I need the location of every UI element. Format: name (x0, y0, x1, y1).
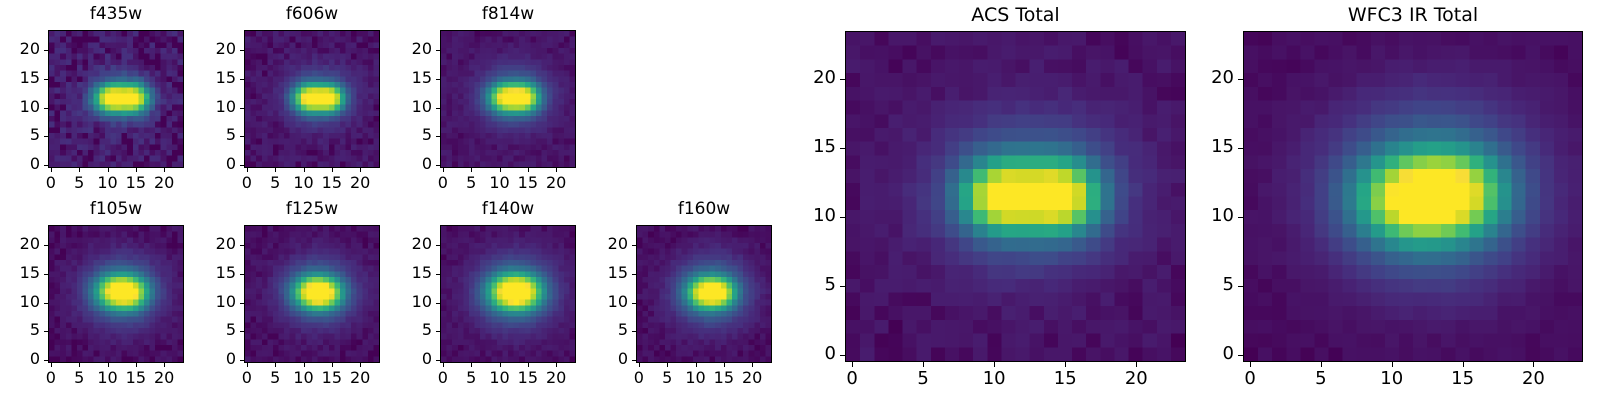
x-tick-mark (1533, 362, 1534, 367)
y-tick-label: 20 (388, 41, 432, 57)
heatmap-image-f435w (49, 31, 183, 167)
x-tick-mark (136, 363, 137, 367)
panel-title-f606w: f606w (244, 6, 380, 23)
panel-title-acs-total: ACS Total (845, 6, 1186, 25)
x-tick-label: 5 (647, 370, 687, 386)
x-tick-mark (923, 362, 924, 367)
axes-f160w[interactable] (636, 225, 772, 363)
x-tick-mark (1392, 362, 1393, 367)
x-tick-mark (304, 363, 305, 367)
x-tick-label: 0 (1230, 370, 1270, 388)
y-tick-label: 10 (1190, 207, 1234, 225)
y-tick-label: 20 (792, 69, 836, 87)
panel-title-f105w: f105w (48, 201, 184, 218)
x-tick-mark (1136, 362, 1137, 367)
axes-wfc3-ir-total[interactable] (1243, 31, 1583, 362)
x-tick-label: 20 (1116, 370, 1156, 388)
x-tick-mark (556, 363, 557, 367)
x-tick-label: 15 (1045, 370, 1085, 388)
panel-title-f435w: f435w (48, 6, 184, 23)
x-tick-label: 10 (974, 370, 1014, 388)
x-tick-mark (247, 363, 248, 367)
y-tick-label: 20 (388, 236, 432, 252)
y-tick-label: 20 (0, 236, 40, 252)
x-tick-label: 15 (312, 370, 352, 386)
x-tick-mark (332, 168, 333, 172)
x-tick-mark (443, 363, 444, 367)
x-tick-label: 20 (536, 175, 576, 191)
x-tick-label: 20 (340, 175, 380, 191)
x-tick-mark (51, 168, 52, 172)
axes-f606w[interactable] (244, 30, 380, 168)
x-tick-label: 10 (480, 370, 520, 386)
axes-f140w[interactable] (440, 225, 576, 363)
y-tick-label: 15 (388, 265, 432, 281)
x-tick-mark (500, 168, 501, 172)
x-tick-label: 20 (144, 175, 184, 191)
x-tick-mark (556, 168, 557, 172)
y-tick-label: 5 (192, 322, 236, 338)
x-tick-mark (360, 168, 361, 172)
x-tick-mark (500, 363, 501, 367)
panel-title-f140w: f140w (440, 201, 576, 218)
heatmap-image-f125w (245, 226, 379, 362)
x-tick-label: 0 (619, 370, 659, 386)
axes-f814w[interactable] (440, 30, 576, 168)
x-tick-label: 10 (284, 370, 324, 386)
x-tick-mark (667, 363, 668, 367)
x-tick-mark (724, 363, 725, 367)
y-tick-label: 10 (192, 99, 236, 115)
x-tick-label: 5 (451, 370, 491, 386)
x-tick-label: 15 (1443, 370, 1483, 388)
x-tick-mark (79, 363, 80, 367)
x-tick-label: 5 (59, 175, 99, 191)
x-tick-label: 10 (88, 175, 128, 191)
x-tick-label: 20 (1513, 370, 1553, 388)
x-tick-mark (275, 168, 276, 172)
x-tick-label: 10 (284, 175, 324, 191)
y-tick-label: 15 (792, 138, 836, 156)
x-tick-label: 0 (31, 175, 71, 191)
x-tick-label: 15 (312, 175, 352, 191)
heatmap-image-acs-total (846, 32, 1185, 361)
y-tick-label: 5 (584, 322, 628, 338)
x-tick-mark (1321, 362, 1322, 367)
x-tick-label: 5 (59, 370, 99, 386)
panel-title-wfc3-ir-total: WFC3 IR Total (1243, 6, 1583, 25)
x-tick-mark (79, 168, 80, 172)
panel-wfc3-ir-total[interactable]: WFC3 IR Total0510152005101520 (0, 0, 1600, 400)
x-tick-label: 0 (832, 370, 872, 388)
x-tick-mark (51, 363, 52, 367)
x-tick-label: 5 (255, 370, 295, 386)
x-tick-mark (108, 168, 109, 172)
x-tick-label: 10 (676, 370, 716, 386)
y-tick-label: 0 (584, 351, 628, 367)
x-tick-label: 20 (144, 370, 184, 386)
x-tick-label: 10 (88, 370, 128, 386)
x-tick-mark (639, 363, 640, 367)
y-tick-label: 15 (192, 265, 236, 281)
axes-acs-total[interactable] (845, 31, 1186, 362)
x-tick-mark (471, 168, 472, 172)
y-tick-label: 0 (192, 156, 236, 172)
y-tick-label: 15 (0, 265, 40, 281)
y-tick-label: 5 (0, 322, 40, 338)
y-tick-label: 15 (1190, 138, 1234, 156)
x-tick-mark (360, 363, 361, 367)
y-tick-label: 20 (1190, 69, 1234, 87)
y-tick-label: 20 (192, 236, 236, 252)
x-tick-label: 15 (704, 370, 744, 386)
x-tick-label: 0 (31, 370, 71, 386)
y-tick-label: 10 (192, 294, 236, 310)
panel-title-f125w: f125w (244, 201, 380, 218)
x-tick-label: 15 (116, 370, 156, 386)
x-tick-mark (275, 363, 276, 367)
y-tick-label: 15 (388, 70, 432, 86)
y-tick-label: 0 (192, 351, 236, 367)
y-tick-label: 10 (792, 207, 836, 225)
figure-canvas: f435w0510152005101520f606w05101520051015… (0, 0, 1600, 400)
y-tick-label: 5 (0, 127, 40, 143)
y-tick-label: 0 (388, 156, 432, 172)
x-tick-mark (1463, 362, 1464, 367)
x-tick-mark (247, 168, 248, 172)
x-tick-label: 0 (423, 175, 463, 191)
y-tick-label: 10 (0, 99, 40, 115)
y-tick-label: 0 (0, 351, 40, 367)
y-tick-label: 0 (0, 156, 40, 172)
axes-f125w[interactable] (244, 225, 380, 363)
x-tick-mark (164, 363, 165, 367)
x-tick-mark (471, 363, 472, 367)
x-tick-label: 5 (1301, 370, 1341, 388)
x-tick-label: 5 (451, 175, 491, 191)
x-tick-mark (136, 168, 137, 172)
y-tick-label: 10 (388, 99, 432, 115)
y-tick-label: 5 (192, 127, 236, 143)
y-tick-label: 15 (192, 70, 236, 86)
x-tick-label: 20 (536, 370, 576, 386)
y-tick-label: 0 (388, 351, 432, 367)
x-tick-label: 10 (1372, 370, 1412, 388)
y-tick-label: 10 (584, 294, 628, 310)
y-tick-label: 10 (0, 294, 40, 310)
x-tick-mark (332, 363, 333, 367)
y-tick-label: 0 (792, 345, 836, 363)
x-tick-mark (164, 168, 165, 172)
axes-f435w[interactable] (48, 30, 184, 168)
x-tick-mark (1065, 362, 1066, 367)
y-tick-label: 0 (1190, 345, 1234, 363)
heatmap-image-wfc3-ir-total (1244, 32, 1582, 361)
y-tick-label: 20 (584, 236, 628, 252)
y-tick-label: 5 (1190, 276, 1234, 294)
y-tick-label: 5 (792, 276, 836, 294)
y-tick-label: 20 (192, 41, 236, 57)
y-tick-label: 10 (388, 294, 432, 310)
x-tick-label: 20 (732, 370, 772, 386)
x-tick-label: 0 (227, 175, 267, 191)
x-tick-label: 0 (227, 370, 267, 386)
x-tick-mark (852, 362, 853, 367)
heatmap-image-f606w (245, 31, 379, 167)
heatmap-image-f140w (441, 226, 575, 362)
panel-title-f160w: f160w (636, 201, 772, 218)
x-tick-label: 15 (508, 370, 548, 386)
x-tick-mark (528, 168, 529, 172)
y-tick-label: 15 (0, 70, 40, 86)
heatmap-image-f105w (49, 226, 183, 362)
x-tick-label: 15 (508, 175, 548, 191)
y-tick-label: 5 (388, 322, 432, 338)
x-tick-label: 20 (340, 370, 380, 386)
x-tick-label: 0 (423, 370, 463, 386)
x-tick-label: 5 (255, 175, 295, 191)
x-tick-mark (752, 363, 753, 367)
x-tick-mark (304, 168, 305, 172)
x-tick-mark (108, 363, 109, 367)
panel-title-f814w: f814w (440, 6, 576, 23)
x-tick-label: 5 (903, 370, 943, 388)
x-tick-mark (1250, 362, 1251, 367)
x-tick-mark (528, 363, 529, 367)
heatmap-image-f160w (637, 226, 771, 362)
x-tick-mark (994, 362, 995, 367)
x-tick-mark (443, 168, 444, 172)
y-tick-label: 20 (0, 41, 40, 57)
x-tick-mark (696, 363, 697, 367)
x-tick-label: 10 (480, 175, 520, 191)
axes-f105w[interactable] (48, 225, 184, 363)
x-tick-label: 15 (116, 175, 156, 191)
y-tick-label: 15 (584, 265, 628, 281)
heatmap-image-f814w (441, 31, 575, 167)
y-tick-label: 5 (388, 127, 432, 143)
